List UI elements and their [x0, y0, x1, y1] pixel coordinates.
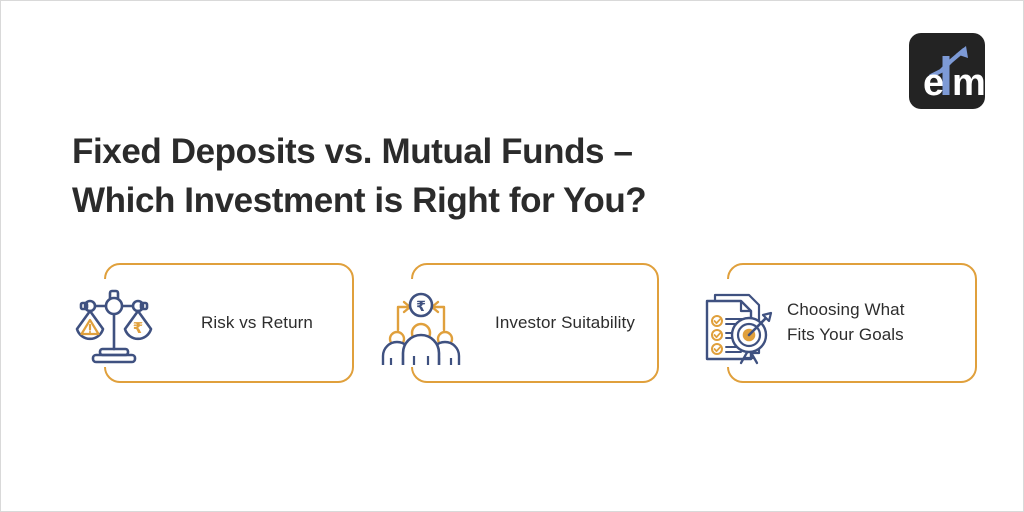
- page-title-line-2: Which Investment is Right for You?: [72, 177, 902, 225]
- feature-card-label: Choosing What Fits Your Goals: [787, 263, 963, 383]
- logo-letter-e: e: [923, 62, 944, 104]
- feature-card-choosing-what-fits-your-goals[interactable]: Choosing What Fits Your Goals: [691, 263, 977, 383]
- feature-card-label-line-1: Risk vs Return: [201, 311, 313, 336]
- feature-card-row: ₹ Risk vs Return: [1, 263, 1024, 387]
- feature-card-risk-vs-return[interactable]: ₹ Risk vs Return: [68, 263, 354, 383]
- balance-scale-icon: ₹: [68, 277, 160, 369]
- logo-letter-l: [943, 56, 950, 95]
- investor-group-icon: ₹: [375, 277, 467, 369]
- checklist-target-icon: [691, 277, 783, 369]
- infographic-canvas: e m Fixed Deposits vs. Mutual Funds – Wh…: [0, 0, 1024, 512]
- feature-card-investor-suitability[interactable]: ₹ I: [375, 263, 659, 383]
- feature-card-label: Risk vs Return: [172, 263, 342, 383]
- logo-letter-m: m: [952, 62, 985, 104]
- feature-card-label-line-1: Choosing What: [787, 298, 905, 323]
- page-title-line-1: Fixed Deposits vs. Mutual Funds –: [72, 128, 902, 176]
- page-title: Fixed Deposits vs. Mutual Funds – Which …: [72, 128, 902, 225]
- elm-logo-mark: e m: [909, 33, 985, 109]
- rupee-symbol-icon: ₹: [133, 319, 143, 337]
- feature-card-label-line-2: Fits Your Goals: [787, 323, 905, 348]
- feature-card-label: Investor Suitability: [479, 263, 651, 383]
- feature-card-label-line-1: Investor Suitability: [495, 311, 635, 336]
- rupee-coin-icon: ₹: [410, 294, 432, 316]
- svg-text:₹: ₹: [416, 299, 426, 315]
- elm-logo: e m: [909, 33, 985, 109]
